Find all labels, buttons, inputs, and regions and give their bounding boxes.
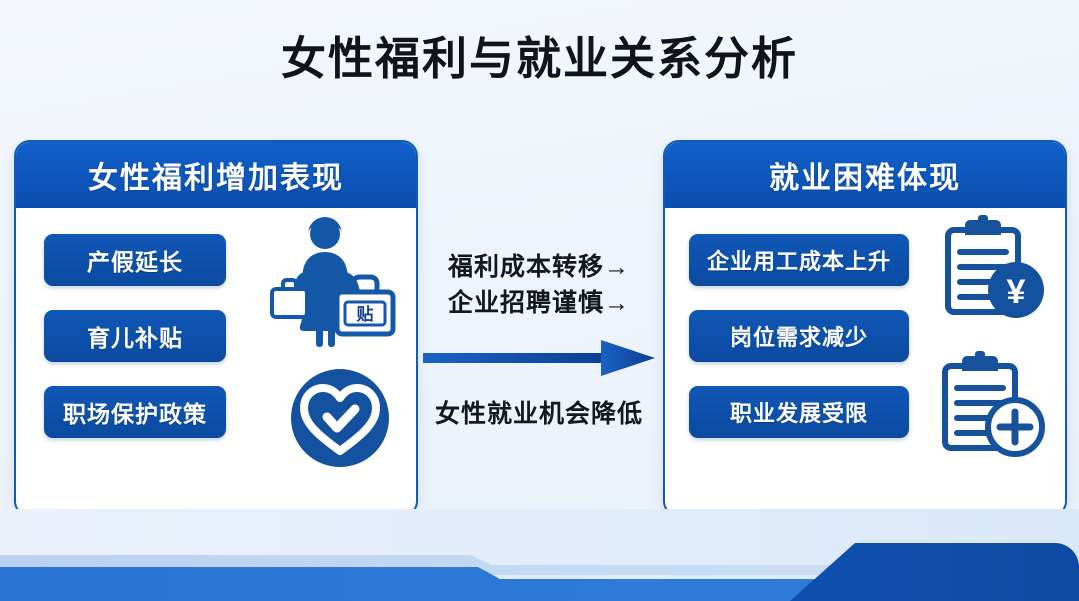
left-item-workplace-protection[interactable]: 职场保护政策 xyxy=(44,386,226,438)
left-card-header: 女性福利增加表现 xyxy=(16,142,416,208)
center-line-cautious-hiring: 企业招聘谨慎→ xyxy=(414,286,664,322)
clipboard-yen-cost-icon: ¥ xyxy=(940,212,1050,327)
page-title: 女性福利与就业关系分析 xyxy=(0,22,1079,87)
left-card-body: 产假延长 育儿补贴 职场保护政策 xyxy=(16,208,416,513)
left-item-label: 产假延长 xyxy=(87,243,183,277)
bottom-decorative-ribbon xyxy=(0,509,1079,601)
right-arrow-icon xyxy=(414,338,664,378)
right-card-header-label: 就业困难体现 xyxy=(769,153,961,197)
left-item-maternity-leave[interactable]: 产假延长 xyxy=(44,234,226,286)
left-item-label: 职场保护政策 xyxy=(63,395,207,429)
right-card-header: 就业困难体现 xyxy=(665,142,1065,208)
left-item-label: 育儿补贴 xyxy=(87,319,183,353)
left-item-childcare-subsidy[interactable]: 育儿补贴 xyxy=(44,310,226,362)
slide-canvas: 女性福利与就业关系分析 女性福利增加表现 产假延长 育儿补贴 职场保护政策 xyxy=(0,0,1079,601)
right-item-label: 职业发展受限 xyxy=(730,396,868,428)
woman-with-briefcase-and-subsidy-bag-icon: 贴 xyxy=(261,214,401,349)
left-card-item-list: 产假延长 育儿补贴 职场保护政策 xyxy=(44,234,226,438)
right-card-body: 企业用工成本上升 岗位需求减少 职业发展受限 xyxy=(665,208,1065,513)
center-conclusion-label: 女性就业机会降低 xyxy=(414,394,664,430)
clipboard-plus-icon xyxy=(937,348,1049,463)
heart-check-shield-icon xyxy=(284,363,396,473)
right-item-labor-cost-rise[interactable]: 企业用工成本上升 xyxy=(689,234,909,286)
right-item-label: 企业用工成本上升 xyxy=(707,244,891,276)
left-card-female-benefits: 女性福利增加表现 产假延长 育儿补贴 职场保护政策 xyxy=(14,140,418,517)
left-card-header-label: 女性福利增加表现 xyxy=(88,153,344,197)
right-card-item-list: 企业用工成本上升 岗位需求减少 职业发展受限 xyxy=(689,234,909,438)
right-item-career-limited[interactable]: 职业发展受限 xyxy=(689,386,909,438)
center-line-cost-transfer: 福利成本转移→ xyxy=(414,250,664,286)
right-item-job-demand-drop[interactable]: 岗位需求减少 xyxy=(689,310,909,362)
yen-badge-text: ¥ xyxy=(1007,273,1026,311)
right-card-employment-difficulty: 就业困难体现 企业用工成本上升 岗位需求减少 职业发展受限 xyxy=(663,140,1067,517)
center-transition-block: 福利成本转移→ 企业招聘谨慎→ 女性就业机会降低 xyxy=(414,250,664,430)
right-item-label: 岗位需求减少 xyxy=(730,320,868,352)
subsidy-bag-badge-text: 贴 xyxy=(357,304,374,324)
